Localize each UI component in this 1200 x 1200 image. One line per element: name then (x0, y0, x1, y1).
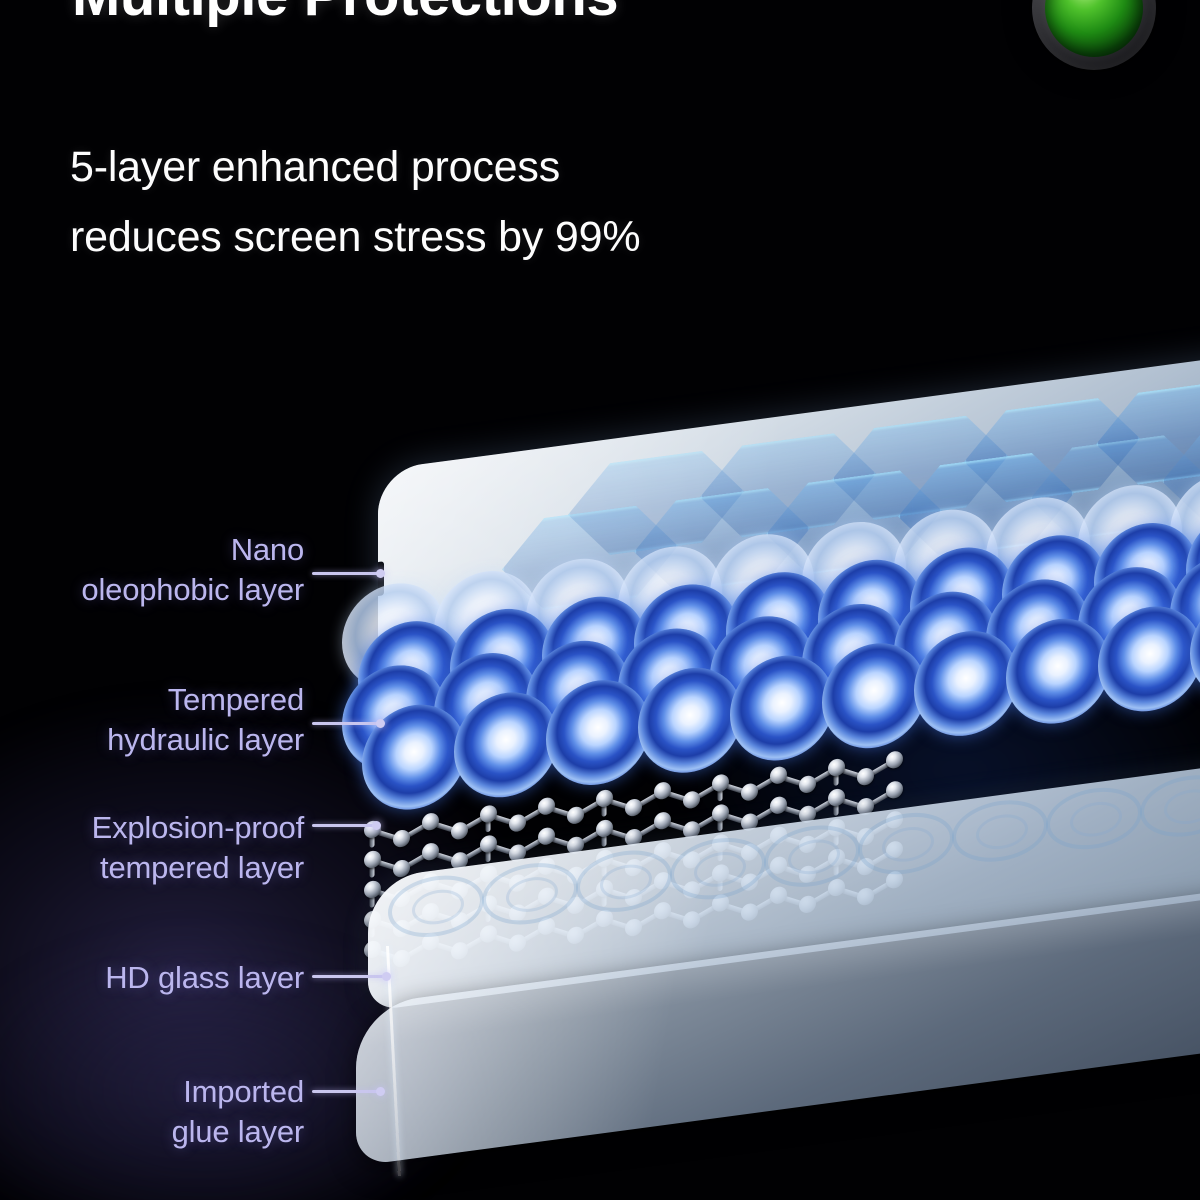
leader-line-nano (312, 572, 378, 575)
molecular-atom (828, 788, 845, 807)
leader-dot-glue (376, 1087, 385, 1096)
molecular-atom (364, 850, 381, 869)
molecular-atom (886, 780, 903, 799)
molecular-atom (654, 781, 671, 800)
page-subtitle: 5-layer enhanced process reduces screen … (70, 132, 640, 272)
molecular-atom (770, 766, 787, 785)
leader-dot-nano (376, 569, 385, 578)
molecular-atom (770, 796, 787, 815)
leader-dot-explosion (372, 821, 381, 830)
molecular-atom (712, 773, 729, 792)
layer-label-nano: Nano oleophobic layer (81, 530, 304, 610)
molecular-atom (596, 789, 613, 808)
molecular-atom (480, 804, 497, 823)
molecular-atom (480, 834, 497, 853)
molecular-atom (422, 842, 439, 861)
molecular-atom (654, 811, 671, 830)
molecular-atom (886, 750, 903, 769)
leader-line-hdglass (312, 975, 384, 978)
molecular-atom (799, 775, 816, 794)
molecular-atom (451, 821, 468, 840)
molecular-atom (567, 806, 584, 825)
layer-label-hdglass: HD glass layer (105, 958, 304, 998)
molecular-atom (596, 819, 613, 838)
molecular-atom (625, 798, 642, 817)
molecular-atom (393, 829, 410, 848)
page-title: Multiple Protections (72, 0, 618, 27)
leader-dot-hydraulic (376, 719, 385, 728)
molecular-atom (683, 790, 700, 809)
molecular-atom (712, 803, 729, 822)
leader-dot-hdglass (382, 972, 391, 981)
molecular-atom (857, 767, 874, 786)
layer-label-hydraulic: Tempered hydraulic layer (107, 680, 304, 760)
leader-line-hydraulic (312, 722, 378, 725)
molecular-atom (538, 797, 555, 816)
molecular-atom (509, 813, 526, 832)
molecular-atom (828, 758, 845, 777)
layer-label-glue: Imported glue layer (172, 1072, 304, 1152)
molecular-atom (741, 782, 758, 801)
leader-line-glue (312, 1090, 378, 1093)
molecular-atom (422, 812, 439, 831)
layer-label-explosion: Explosion-proof tempered layer (92, 808, 304, 888)
leader-line-explosion (312, 824, 374, 827)
molecular-atom (538, 827, 555, 846)
infographic-canvas: Multiple Protections 5-layer enhanced pr… (0, 0, 1200, 1200)
